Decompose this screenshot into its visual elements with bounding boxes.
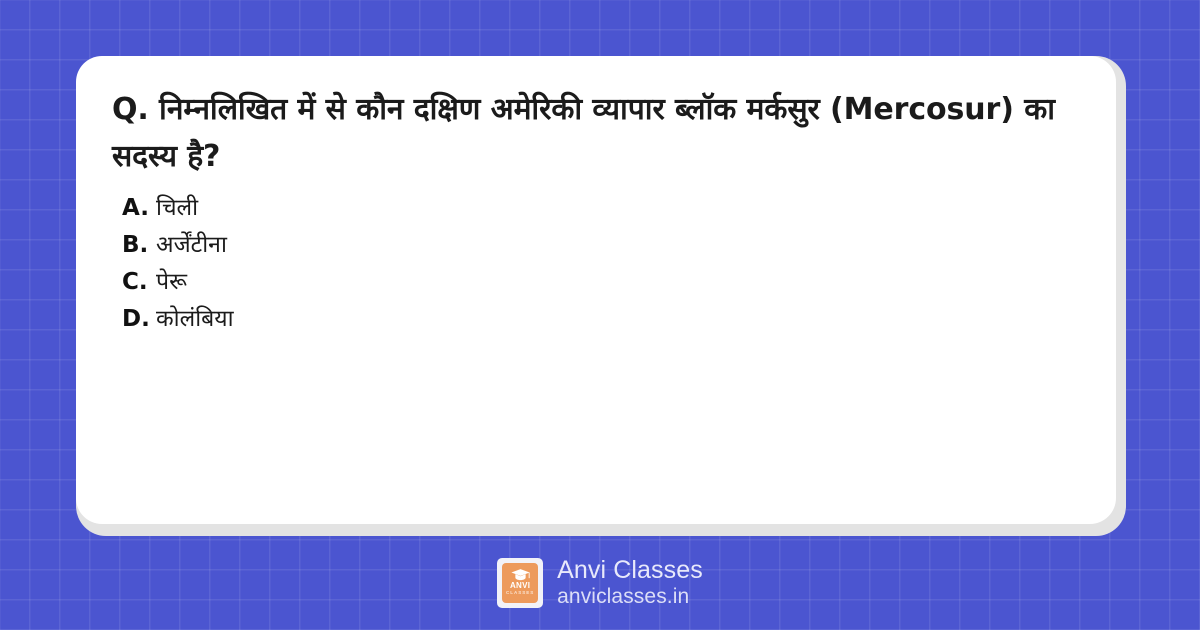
option-c-letter: C. [122,265,156,300]
question-card: Q. निम्नलिखित में से कौन दक्षिण अमेरिकी … [76,56,1116,524]
option-a-text: चिली [156,191,198,226]
option-c-text: पेरू [156,265,187,300]
question-text: Q. निम्नलिखित में से कौन दक्षिण अमेरिकी … [112,86,1072,181]
option-d[interactable]: D. कोलंबिया [122,302,1080,337]
option-b-text: अर्जेंटीना [156,228,227,263]
option-a-letter: A. [122,191,156,226]
option-b[interactable]: B. अर्जेंटीना [122,228,1080,263]
graduation-cap-icon [511,569,530,581]
option-c[interactable]: C. पेरू [122,265,1080,300]
brand-text-block: Anvi Classes anviclasses.in [557,557,703,609]
quiz-poster: Q. निम्नलिखित में से कौन दक्षिण अमेरिकी … [0,0,1200,630]
option-d-letter: D. [122,302,156,337]
option-b-letter: B. [122,228,156,263]
brand-logo: ANVI CLASSES [497,558,543,608]
brand-logo-subword: CLASSES [506,590,534,596]
option-d-text: कोलंबिया [156,302,234,337]
brand-url[interactable]: anviclasses.in [557,586,703,609]
brand-logo-tile: ANVI CLASSES [502,563,538,603]
brand-logo-word: ANVI [510,582,530,590]
brand-footer: ANVI CLASSES Anvi Classes anviclasses.in [0,546,1200,620]
option-a[interactable]: A. चिली [122,191,1080,226]
options-list: A. चिली B. अर्जेंटीना C. पेरू D. कोलंबिय… [112,191,1080,337]
brand-name: Anvi Classes [557,557,703,584]
